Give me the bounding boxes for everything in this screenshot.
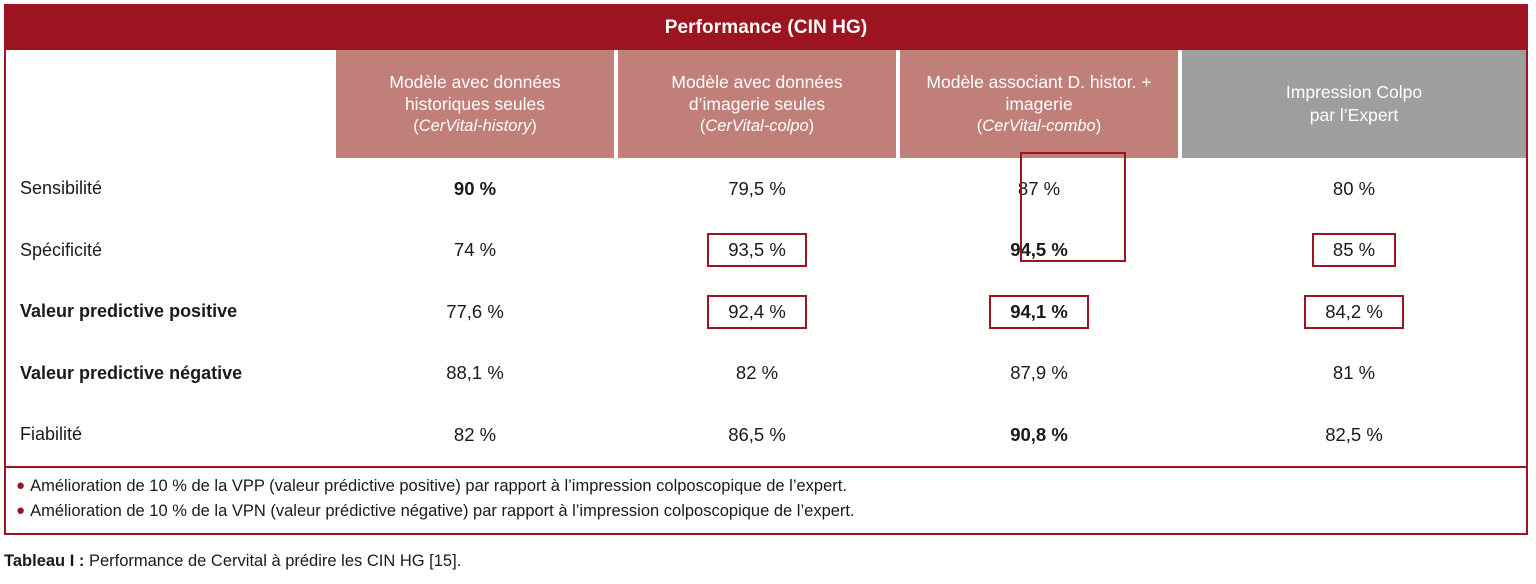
footnote-text: Amélioration de 10 % de la VPN (valeur p… [30,499,855,525]
header-line1: Modèle avec données [671,71,842,94]
cell-history: 82 % [336,404,614,466]
header-line1: Modèle associant D. histor. + [926,71,1151,94]
cell-value: 77,6 % [446,301,504,323]
header-line2: par l’Expert [1310,104,1399,127]
header-cell-colpo: Modèle avec données d’imagerie seules (C… [618,50,896,158]
cell-colpo: 86,5 % [618,404,896,466]
cell-history: 88,1 % [336,343,614,405]
cell-value: 90 % [454,178,496,200]
cell-value: 74 % [454,239,496,261]
cell-value: 86,5 % [728,424,786,446]
cell-value-highlighted: 84,2 % [1304,295,1404,329]
header-line2: historiques seules [405,93,545,116]
header-line2: d’imagerie seules [689,93,825,116]
cell-combo: 90,8 % [900,404,1178,466]
table-footnotes: ● Amélioration de 10 % de la VPP (valeur… [6,466,1526,533]
cell-colpo: 92,4 % [618,281,896,343]
cell-combo: 94,5 % [900,220,1178,282]
cell-value: 88,1 % [446,362,504,384]
table-title: Performance (CIN HG) [6,6,1526,50]
cell-value: 79,5 % [728,178,786,200]
caption-label: Tableau I : [4,552,84,570]
figure-caption: Tableau I : Performance de Cervital à pr… [4,552,461,571]
cell-value: 81 % [1333,362,1375,384]
footnote-text: Amélioration de 10 % de la VPP (valeur p… [30,474,847,500]
header-subtitle: (CerVital-colpo) [700,116,814,137]
cell-value: 94,5 % [1010,239,1068,261]
table-row: Spécificité 74 % 93,5 % 94,5 % 85 % [6,220,1526,282]
header-subtitle: (CerVital-history) [413,116,536,137]
table-row: Valeur predictive positive 77,6 % 92,4 %… [6,281,1526,343]
cell-colpo: 82 % [618,343,896,405]
footnote-item: ● Amélioration de 10 % de la VPN (valeur… [16,499,1526,525]
cell-value: 87 % [1018,178,1060,200]
table-row: Valeur predictive négative 88,1 % 82 % 8… [6,343,1526,405]
cell-combo: 87,9 % [900,343,1178,405]
cell-history: 74 % [336,220,614,282]
cell-colpo: 93,5 % [618,220,896,282]
cell-expert: 84,2 % [1182,281,1526,343]
cell-value-highlighted: 93,5 % [707,233,807,267]
row-label: Fiabilité [6,404,336,466]
cell-value: 90,8 % [1010,424,1068,446]
header-line2: imagerie [1005,93,1072,116]
header-cell-metric [6,50,336,158]
cell-history: 77,6 % [336,281,614,343]
row-label: Valeur predictive positive [6,281,336,343]
header-cell-combo: Modèle associant D. histor. + imagerie (… [900,50,1178,158]
table-row: Fiabilité 82 % 86,5 % 90,8 % 82,5 % [6,404,1526,466]
table-figure: Performance (CIN HG) Modèle avec données… [0,0,1536,584]
cell-combo: 94,1 % [900,281,1178,343]
cell-expert: 80 % [1182,158,1526,220]
cell-value: 82 % [454,424,496,446]
caption-text: Performance de Cervital à prédire les CI… [84,552,461,570]
cell-value: 80 % [1333,178,1375,200]
cell-value: 82,5 % [1325,424,1383,446]
header-line1: Modèle avec données [389,71,560,94]
header-line1: Impression Colpo [1286,81,1422,104]
footnote-item: ● Amélioration de 10 % de la VPP (valeur… [16,474,1526,500]
cell-value: 82 % [736,362,778,384]
cell-expert: 82,5 % [1182,404,1526,466]
bullet-icon: ● [16,478,25,493]
cell-value-highlighted: 85 % [1312,233,1396,267]
bullet-icon: ● [16,503,25,518]
cell-expert: 85 % [1182,220,1526,282]
cell-colpo: 79,5 % [618,158,896,220]
table-header-row: Modèle avec données historiques seules (… [6,50,1526,158]
row-label: Valeur predictive négative [6,343,336,405]
cell-value: 87,9 % [1010,362,1068,384]
header-cell-history: Modèle avec données historiques seules (… [336,50,614,158]
row-label: Sensibilité [6,158,336,220]
cell-value-highlighted: 94,1 % [989,295,1089,329]
header-cell-expert: Impression Colpo par l’Expert [1182,50,1526,158]
cell-history: 90 % [336,158,614,220]
row-label: Spécificité [6,220,336,282]
cell-value-highlighted: 92,4 % [707,295,807,329]
cell-combo: 87 % [900,158,1178,220]
cell-expert: 81 % [1182,343,1526,405]
performance-table: Performance (CIN HG) Modèle avec données… [4,4,1528,535]
table-row: Sensibilité 90 % 79,5 % 87 % 80 % [6,158,1526,220]
table-body: Sensibilité 90 % 79,5 % 87 % 80 % Spécif… [6,158,1526,466]
header-subtitle: (CerVital-combo) [977,116,1101,137]
